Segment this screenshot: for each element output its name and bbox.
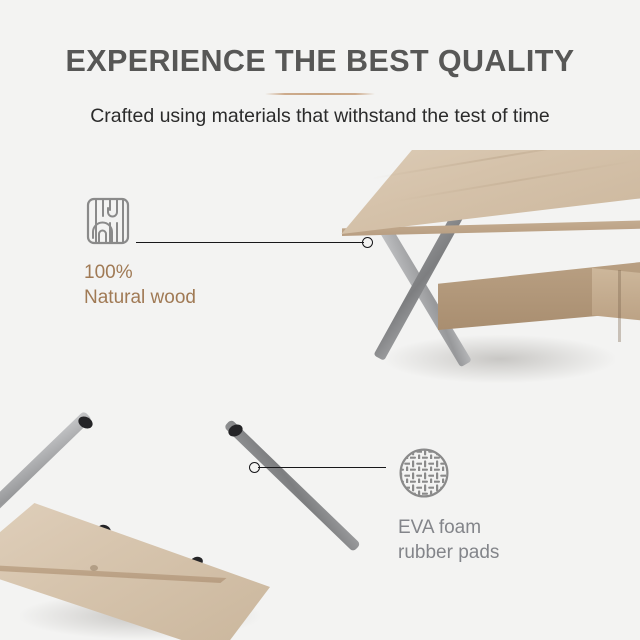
header: EXPERIENCE THE BEST QUALITY Crafted usin… [0,0,640,150]
leader-line-eva-foam [258,467,386,468]
callout-natural-wood-line2: Natural wood [84,285,196,310]
title-divider [265,93,375,95]
page-title: EXPERIENCE THE BEST QUALITY [0,44,640,79]
page-subtitle: Crafted using materials that withstand t… [0,105,640,128]
board-top-surface [338,150,640,234]
wood-grain-icon [84,196,132,246]
callout-eva-foam-label: EVA foam rubber pads [398,515,499,565]
board-right-underside [592,268,640,342]
stand-leg-upper-right [224,419,361,552]
product-photo-stand-top-view [330,150,640,400]
callout-natural-wood-label: 100% Natural wood [84,260,196,310]
callout-natural-wood-line1: 100% [84,260,196,285]
callout-eva-foam-line1: EVA foam [398,515,499,540]
screw-hole [90,565,98,571]
woven-texture-circle-icon [398,447,450,499]
leader-endpoint-eva-foam [249,462,260,473]
product-infographic: EXPERIENCE THE BEST QUALITY Crafted usin… [0,0,640,640]
board-seam [618,270,621,342]
leader-endpoint-natural-wood [362,237,373,248]
photo-shadow [385,335,615,383]
product-photo-stand-underside-view [0,395,320,640]
stage-divider-wash [0,328,360,398]
callout-eva-foam-line2: rubber pads [398,540,499,565]
callout-natural-wood: 100% Natural wood [84,196,196,310]
callout-eva-foam-pads: EVA foam rubber pads [398,447,499,565]
